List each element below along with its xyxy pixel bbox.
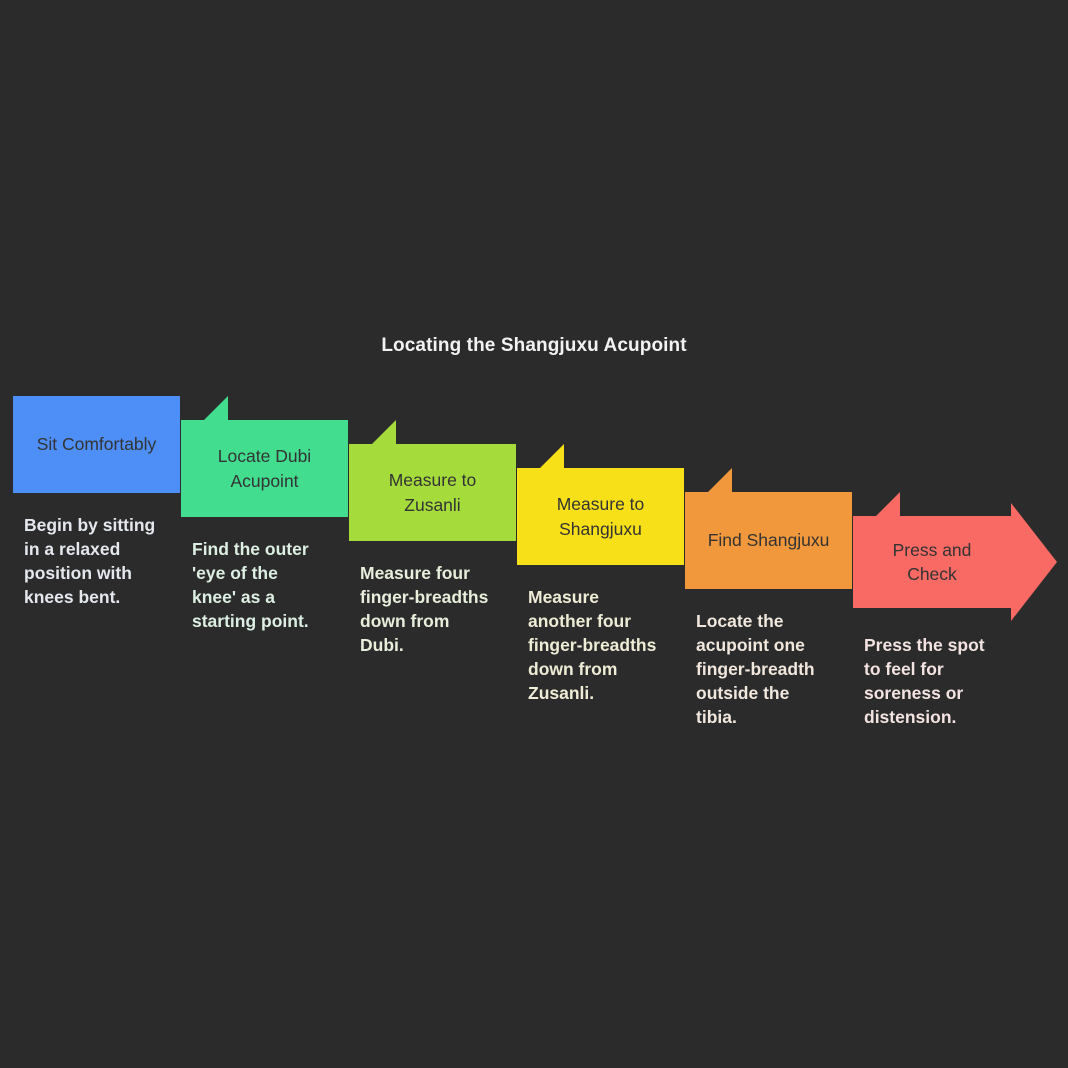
step-label-6: Press and Check: [893, 538, 972, 586]
process-step-4[interactable]: Measure to Shangjuxu: [517, 468, 684, 565]
arrow-head-icon: [1011, 503, 1057, 621]
step-description-5: Locate the acupoint one finger-breadth o…: [696, 610, 856, 730]
step-description-4: Measure another four finger-breadths dow…: [528, 586, 688, 706]
step-description-2: Find the outer 'eye of the knee' as a st…: [192, 538, 352, 634]
process-step-3[interactable]: Measure to Zusanli: [349, 444, 516, 541]
step-description-3: Measure four finger-breadths down from D…: [360, 562, 520, 658]
step-description-6: Press the spot to feel for soreness or d…: [864, 634, 1034, 730]
step-label-5: Find Shangjuxu: [708, 528, 830, 552]
step-label-4: Measure to Shangjuxu: [557, 492, 645, 540]
step-label-1: Sit Comfortably: [37, 432, 157, 456]
process-step-2[interactable]: Locate Dubi Acupoint: [181, 420, 348, 517]
process-step-5[interactable]: Find Shangjuxu: [685, 492, 852, 589]
step-description-1: Begin by sitting in a relaxed position w…: [24, 514, 184, 610]
step-banner-1[interactable]: Sit Comfortably: [13, 396, 180, 493]
process-step-1[interactable]: Sit Comfortably: [13, 396, 180, 493]
step-banner-3[interactable]: Measure to Zusanli: [349, 444, 516, 541]
process-step-6[interactable]: Press and Check: [853, 516, 1011, 608]
flow-diagram-canvas: Locating the Shangjuxu Acupoint Sit Comf…: [0, 0, 1068, 1068]
step-label-2: Locate Dubi Acupoint: [218, 444, 311, 492]
step-label-3: Measure to Zusanli: [389, 468, 477, 516]
step-banner-2[interactable]: Locate Dubi Acupoint: [181, 420, 348, 517]
page-title: Locating the Shangjuxu Acupoint: [0, 335, 1068, 357]
step-banner-4[interactable]: Measure to Shangjuxu: [517, 468, 684, 565]
step-banner-5[interactable]: Find Shangjuxu: [685, 492, 852, 589]
step-banner-6[interactable]: Press and Check: [853, 516, 1011, 608]
